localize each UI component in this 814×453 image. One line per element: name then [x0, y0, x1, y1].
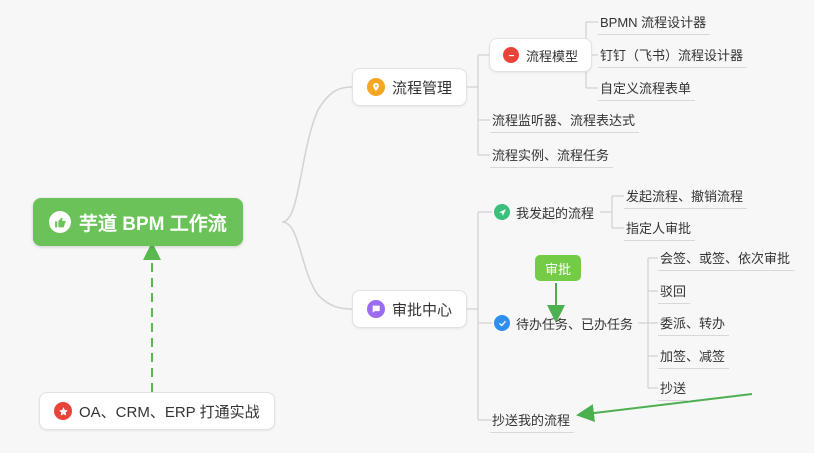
callout-approval-tag-label: 审批 [545, 259, 571, 278]
location-pin-icon [367, 78, 385, 96]
leaf-add-remove-sign[interactable]: 加签、减签 [658, 343, 729, 369]
leaf-bpmn-designer-label: BPMN 流程设计器 [600, 12, 706, 31]
mindmap-canvas: 芋道 BPM 工作流 流程管理 流程模型 BPMN 流程设计器 钉钉（飞书）流程… [0, 0, 814, 453]
leaf-cc-label: 抄送 [660, 378, 686, 397]
message-circle-icon [367, 300, 385, 318]
callout-oa-crm-erp-label: OA、CRM、ERP 打通实战 [79, 401, 260, 422]
leaf-countersign-label: 会签、或签、依次审批 [660, 248, 790, 267]
minus-circle-icon [503, 47, 519, 63]
leaf-countersign[interactable]: 会签、或签、依次审批 [658, 245, 794, 271]
leaf-start-cancel-process[interactable]: 发起流程、撤销流程 [624, 183, 747, 209]
leaf-reject-label: 驳回 [660, 281, 686, 300]
leaf-delegate-transfer-label: 委派、转办 [660, 313, 725, 332]
link-root-to-approval-center [282, 222, 352, 309]
leaf-start-cancel-process-label: 发起流程、撤销流程 [626, 186, 743, 205]
leaf-assign-approver-label: 指定人审批 [626, 218, 691, 237]
root-node[interactable]: 芋道 BPM 工作流 [33, 198, 243, 246]
leaf-cc[interactable]: 抄送 [658, 375, 690, 401]
node-process-model[interactable]: 流程模型 [489, 38, 592, 72]
check-circle-icon [494, 315, 510, 331]
leaf-listener-expression-label: 流程监听器、流程表达式 [492, 110, 635, 129]
leaf-cc-to-me-processes-label: 抄送我的流程 [492, 410, 570, 429]
node-approval-center-label: 审批中心 [392, 299, 452, 320]
leaf-add-remove-sign-label: 加签、减签 [660, 346, 725, 365]
node-todo-done-tasks[interactable]: 待办任务、已办任务 [492, 310, 637, 336]
leaf-dingtalk-designer-label: 钉钉（飞书）流程设计器 [600, 45, 743, 64]
node-process-management-label: 流程管理 [392, 77, 452, 98]
callout-approval-tag[interactable]: 审批 [535, 255, 581, 281]
node-process-management[interactable]: 流程管理 [352, 68, 467, 106]
leaf-custom-form[interactable]: 自定义流程表单 [598, 75, 695, 101]
leaf-listener-expression[interactable]: 流程监听器、流程表达式 [490, 107, 639, 133]
leaf-cc-to-me-processes[interactable]: 抄送我的流程 [490, 407, 574, 433]
node-my-started-processes[interactable]: 我发起的流程 [492, 199, 598, 225]
leaf-delegate-transfer[interactable]: 委派、转办 [658, 310, 729, 336]
node-process-model-label: 流程模型 [526, 46, 578, 65]
leaf-reject[interactable]: 驳回 [658, 278, 690, 304]
leaf-custom-form-label: 自定义流程表单 [600, 78, 691, 97]
callout-oa-crm-erp[interactable]: OA、CRM、ERP 打通实战 [39, 392, 275, 430]
node-approval-center[interactable]: 审批中心 [352, 290, 467, 328]
thumbs-up-icon [49, 211, 71, 233]
star-circle-icon [54, 402, 72, 420]
send-circle-icon [494, 204, 510, 220]
node-my-started-processes-label: 我发起的流程 [516, 203, 594, 222]
leaf-assign-approver[interactable]: 指定人审批 [624, 215, 695, 241]
leaf-bpmn-designer[interactable]: BPMN 流程设计器 [598, 9, 710, 35]
leaf-dingtalk-designer[interactable]: 钉钉（飞书）流程设计器 [598, 42, 747, 68]
root-node-label: 芋道 BPM 工作流 [79, 209, 227, 236]
link-root-to-process-mgmt [282, 87, 352, 222]
node-todo-done-tasks-label: 待办任务、已办任务 [516, 314, 633, 333]
leaf-instance-task[interactable]: 流程实例、流程任务 [490, 142, 613, 168]
leaf-instance-task-label: 流程实例、流程任务 [492, 145, 609, 164]
